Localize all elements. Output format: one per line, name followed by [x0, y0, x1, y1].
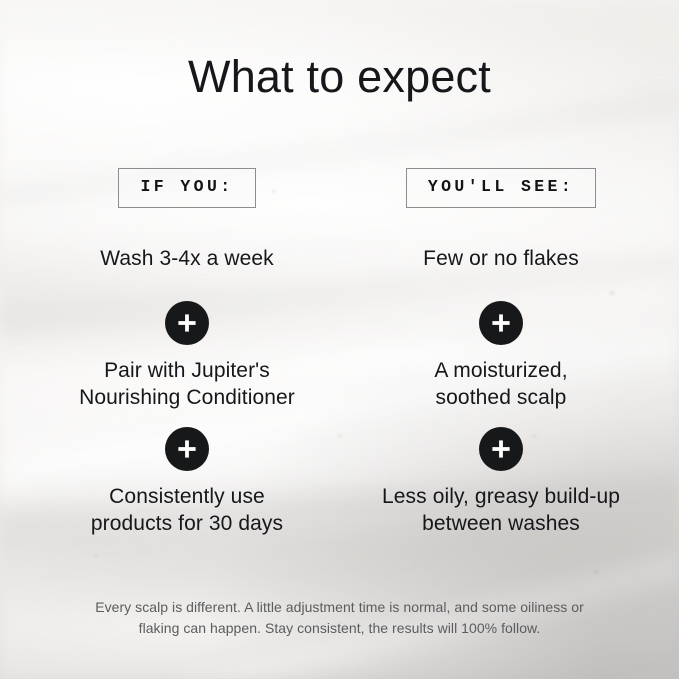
column-youll-see: YOU'LL SEE: Few or no flakes A moisturiz…	[351, 168, 651, 208]
content-area: What to expect IF YOU: Wash 3-4x a week	[0, 0, 679, 679]
plus-icon	[479, 427, 523, 471]
youll-see-item-3: Less oily, greasy build-up between washe…	[351, 484, 651, 538]
item-text: Pair with Jupiter's Nourishing Condition…	[79, 358, 295, 412]
plus-icon	[165, 301, 209, 345]
youll-see-separator-2	[351, 427, 651, 471]
item-text: Few or no flakes	[423, 246, 579, 273]
if-you-item-1: Wash 3-4x a week	[37, 246, 337, 273]
item-text: Wash 3-4x a week	[100, 246, 274, 273]
item-text: A moisturized, soothed scalp	[434, 358, 567, 412]
item-text: Consistently use products for 30 days	[91, 484, 283, 538]
column-header-youll-see: YOU'LL SEE:	[406, 168, 596, 208]
plus-icon	[165, 427, 209, 471]
disclaimer-text: Every scalp is different. A little adjus…	[50, 597, 629, 638]
comparison-columns: IF YOU: Wash 3-4x a week Pair with Jupit…	[0, 168, 679, 568]
item-text: Less oily, greasy build-up between washe…	[382, 484, 620, 538]
if-you-separator-1	[37, 301, 337, 345]
column-header-if-you: IF YOU:	[118, 168, 255, 208]
youll-see-item-1: Few or no flakes	[351, 246, 651, 273]
if-you-item-3: Consistently use products for 30 days	[37, 484, 337, 538]
youll-see-separator-1	[351, 301, 651, 345]
page-title: What to expect	[0, 52, 679, 102]
column-if-you: IF YOU: Wash 3-4x a week Pair with Jupit…	[37, 168, 337, 208]
if-you-item-2: Pair with Jupiter's Nourishing Condition…	[37, 358, 337, 412]
if-you-separator-2	[37, 427, 337, 471]
plus-icon	[479, 301, 523, 345]
product-infographic: What to expect IF YOU: Wash 3-4x a week	[0, 0, 679, 679]
youll-see-item-2: A moisturized, soothed scalp	[351, 358, 651, 412]
